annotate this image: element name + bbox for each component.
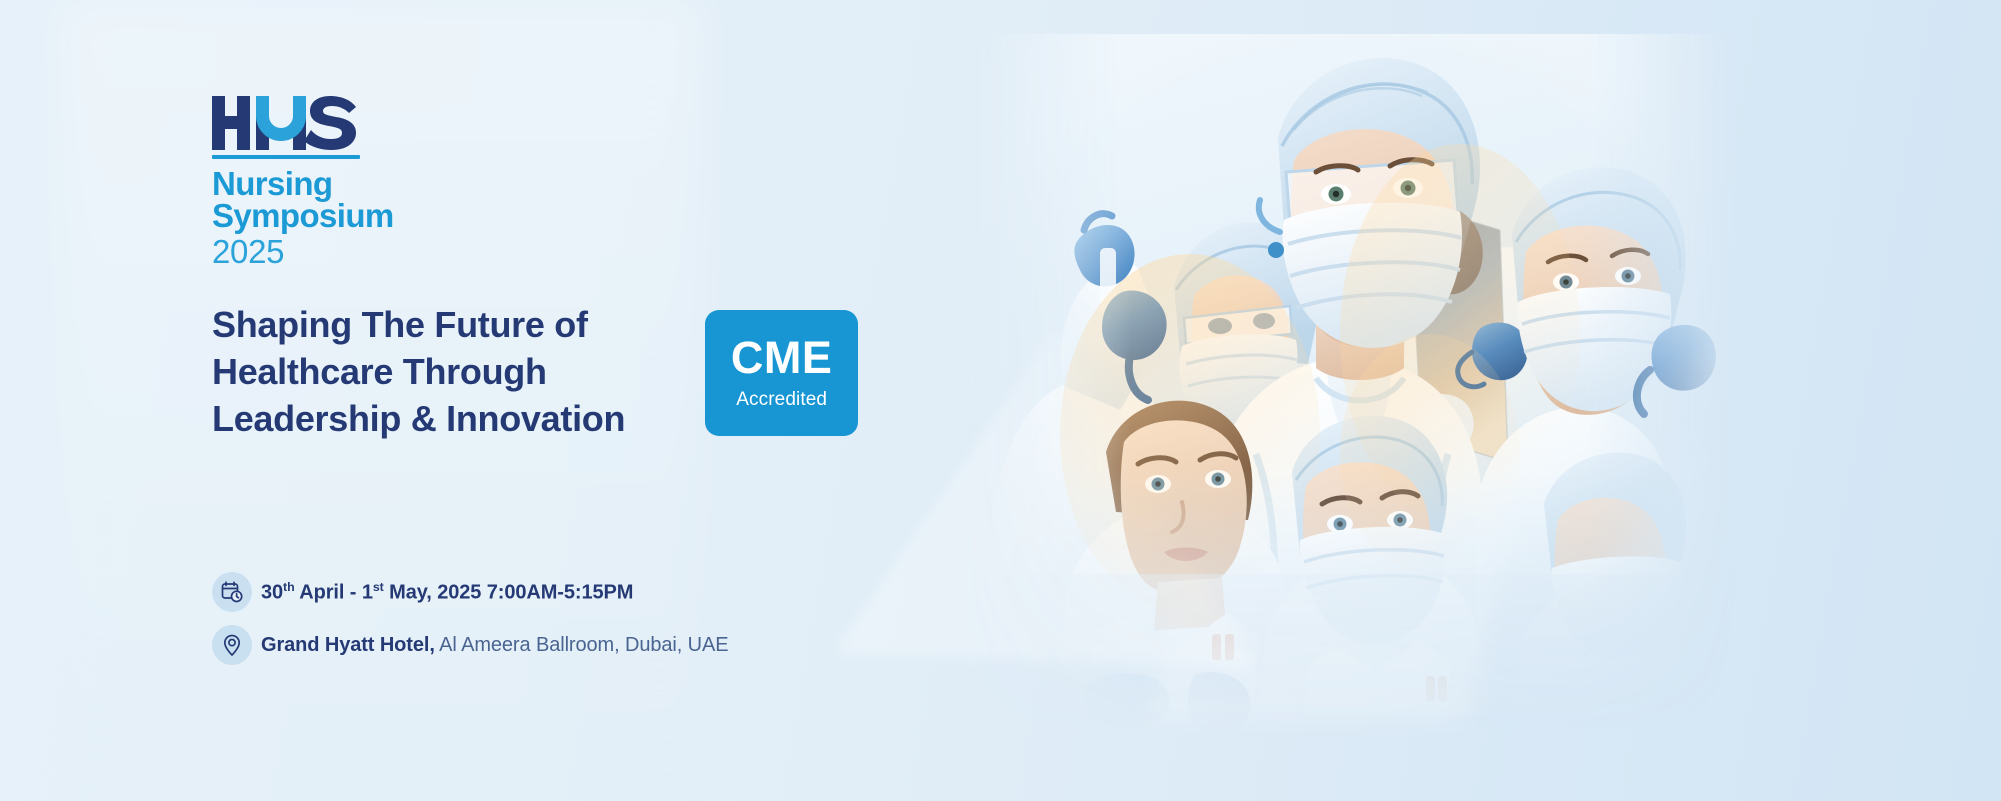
hms-s-letter — [304, 96, 356, 150]
headline-line1: Shaping The Future of — [212, 302, 625, 349]
event-date-month-start: April — [299, 581, 344, 603]
event-date-month-end: May, — [389, 581, 432, 603]
medical-team-photo — [960, 34, 1740, 734]
event-time: 7:00AM-5:15PM — [487, 581, 634, 603]
location-pin-icon — [212, 625, 252, 665]
event-venue-address: Al Ameera Ballroom, Dubai, UAE — [439, 634, 728, 656]
event-venue-name: Grand Hyatt Hotel, — [261, 634, 435, 656]
event-date-ordinal-end: st — [373, 580, 384, 594]
event-date-text: 30th April - 1st May, 2025 7:00AM-5:15PM — [261, 580, 633, 605]
event-date-ordinal-start: th — [283, 580, 295, 594]
headline-row: Shaping The Future of Healthcare Through… — [212, 302, 972, 442]
symposium-year: 2025 — [212, 235, 442, 269]
event-date-day-end: 1 — [362, 581, 373, 603]
banner-headline: Shaping The Future of Healthcare Through… — [212, 302, 625, 442]
event-details: 30th April - 1st May, 2025 7:00AM-5:15PM… — [212, 572, 729, 678]
headline-line3: Leadership & Innovation — [212, 396, 625, 443]
logo-divider-rule — [212, 155, 360, 159]
symposium-name: Nursing Symposium — [212, 168, 442, 233]
event-venue-text: Grand Hyatt Hotel, Al Ameera Ballroom, D… — [261, 634, 729, 657]
event-venue-row: Grand Hyatt Hotel, Al Ameera Ballroom, D… — [212, 625, 729, 665]
hms-wordmark — [212, 96, 360, 150]
cme-badge-subtitle: Accredited — [736, 389, 827, 411]
event-date-day-start: 30 — [261, 581, 283, 603]
cme-accredited-badge: CME Accredited — [705, 310, 858, 436]
event-banner: Nursing Symposium 2025 Shaping The Futur… — [0, 0, 2001, 801]
headline-line2: Healthcare Through — [212, 349, 625, 396]
calendar-clock-icon — [212, 572, 252, 612]
event-date-row: 30th April - 1st May, 2025 7:00AM-5:15PM — [212, 572, 729, 612]
cme-badge-title: CME — [731, 335, 833, 380]
event-date-year: 2025 — [437, 581, 481, 603]
hms-h-right-stem — [237, 96, 250, 150]
hms-logo[interactable]: Nursing Symposium 2025 — [212, 96, 442, 268]
event-date-separator: - — [344, 581, 361, 603]
banner-content: Nursing Symposium 2025 Shaping The Futur… — [212, 96, 972, 443]
symposium-name-line2: Symposium — [212, 200, 442, 232]
